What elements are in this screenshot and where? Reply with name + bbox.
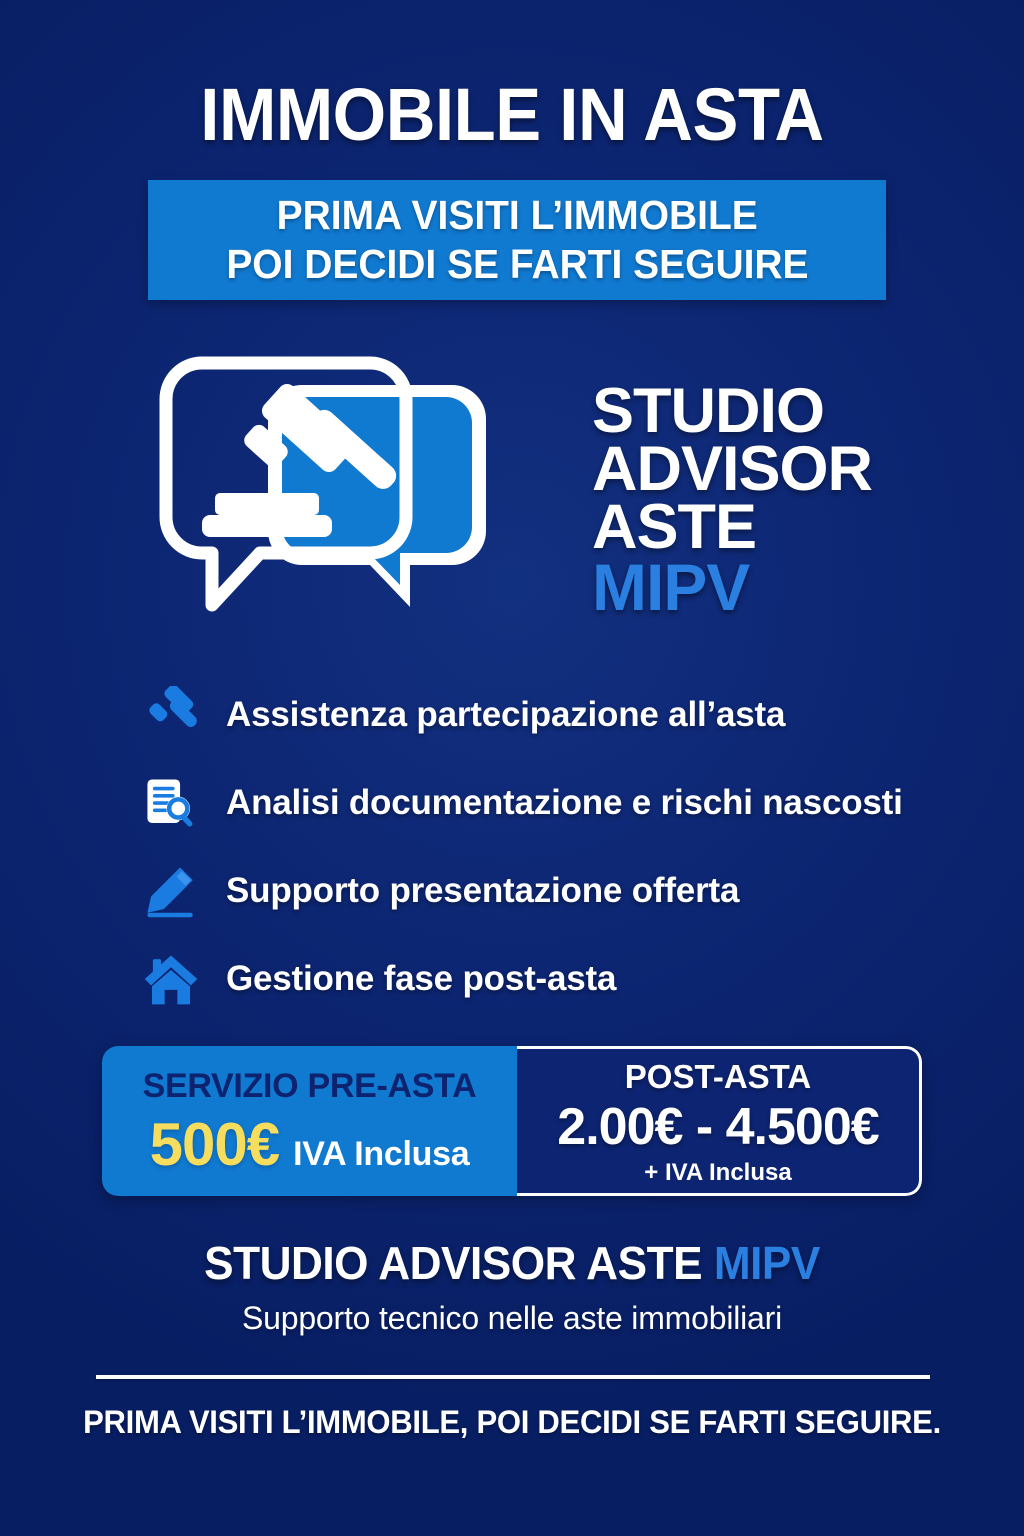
- sub-banner-line-1: PRIMA VISITI L’IMMOBILE: [276, 192, 757, 239]
- house-icon: [140, 948, 202, 1010]
- pricing-pre-asta-panel: SERVIZIO PRE-ASTA 500€ IVA Inclusa: [102, 1046, 517, 1196]
- pricing-box: SERVIZIO PRE-ASTA 500€ IVA Inclusa POST-…: [102, 1046, 922, 1196]
- pricing-post-asta-panel: POST-ASTA 2.00€ - 4.500€ + IVA Inclusa: [517, 1046, 922, 1196]
- sub-banner-line-2: POI DECIDI SE FARTI SEGUIRE: [226, 241, 808, 288]
- sub-banner: PRIMA VISITI L’IMMOBILE POI DECIDI SE FA…: [148, 180, 886, 300]
- list-item-label: Gestione fase post-asta: [226, 959, 616, 999]
- pricing-pre-asta-note: IVA Inclusa: [293, 1135, 469, 1174]
- list-item-label: Analisi documentazione e rischi nascosti: [226, 783, 903, 823]
- footer-brand-main: STUDIO ADVISOR ASTE: [204, 1237, 714, 1289]
- footer-brand-accent: MIPV: [714, 1237, 820, 1289]
- logo-line-advisor: ADVISOR: [592, 441, 872, 499]
- logo-line-aste: ASTE: [592, 499, 872, 557]
- gavel-icon: [140, 684, 202, 746]
- pricing-pre-asta-title: SERVIZIO PRE-ASTA: [143, 1067, 477, 1106]
- pen-signature-icon: [140, 860, 202, 922]
- footer-divider: [96, 1375, 930, 1379]
- list-item-label: Supporto presentazione offerta: [226, 871, 739, 911]
- poster-stage: IMMOBILE IN ASTA PRIMA VISITI L’IMMOBILE…: [0, 0, 1024, 1536]
- footer-brand: STUDIO ADVISOR ASTE MIPV: [20, 1236, 1003, 1290]
- list-item: Analisi documentazione e rischi nascosti: [140, 770, 940, 835]
- pricing-pre-asta-amount: 500€: [150, 1110, 279, 1179]
- pricing-pre-asta-amount-row: 500€ IVA Inclusa: [150, 1110, 470, 1179]
- pricing-post-asta-title: POST-ASTA: [625, 1058, 811, 1096]
- document-search-icon: [140, 772, 202, 834]
- list-item: Assistenza partecipazione all’asta: [140, 682, 940, 747]
- pricing-post-asta-amount: 2.00€ - 4.500€: [557, 1097, 878, 1157]
- list-item: Supporto presentazione offerta: [140, 858, 940, 923]
- footer-tagline: PRIMA VISITI L’IMMOBILE, POI DECIDI SE F…: [15, 1404, 1008, 1441]
- footer-subtitle: Supporto tecnico nelle aste immobiliari: [0, 1300, 1024, 1337]
- logo-line-studio: STUDIO: [592, 383, 872, 441]
- logo-line-mipv: MIPV: [592, 557, 872, 618]
- feature-list: Assistenza partecipazione all’asta Anali…: [140, 682, 940, 1011]
- list-item: Gestione fase post-asta: [140, 946, 940, 1011]
- gavel-speech-bubble-logo-icon: [152, 345, 552, 645]
- page-title: IMMOBILE IN ASTA: [36, 72, 988, 157]
- logo-block: STUDIO ADVISOR ASTE MIPV: [0, 345, 1024, 645]
- logo-wordmark: STUDIO ADVISOR ASTE MIPV: [592, 373, 872, 618]
- pricing-post-asta-note: + IVA Inclusa: [644, 1159, 791, 1187]
- list-item-label: Assistenza partecipazione all’asta: [226, 695, 785, 735]
